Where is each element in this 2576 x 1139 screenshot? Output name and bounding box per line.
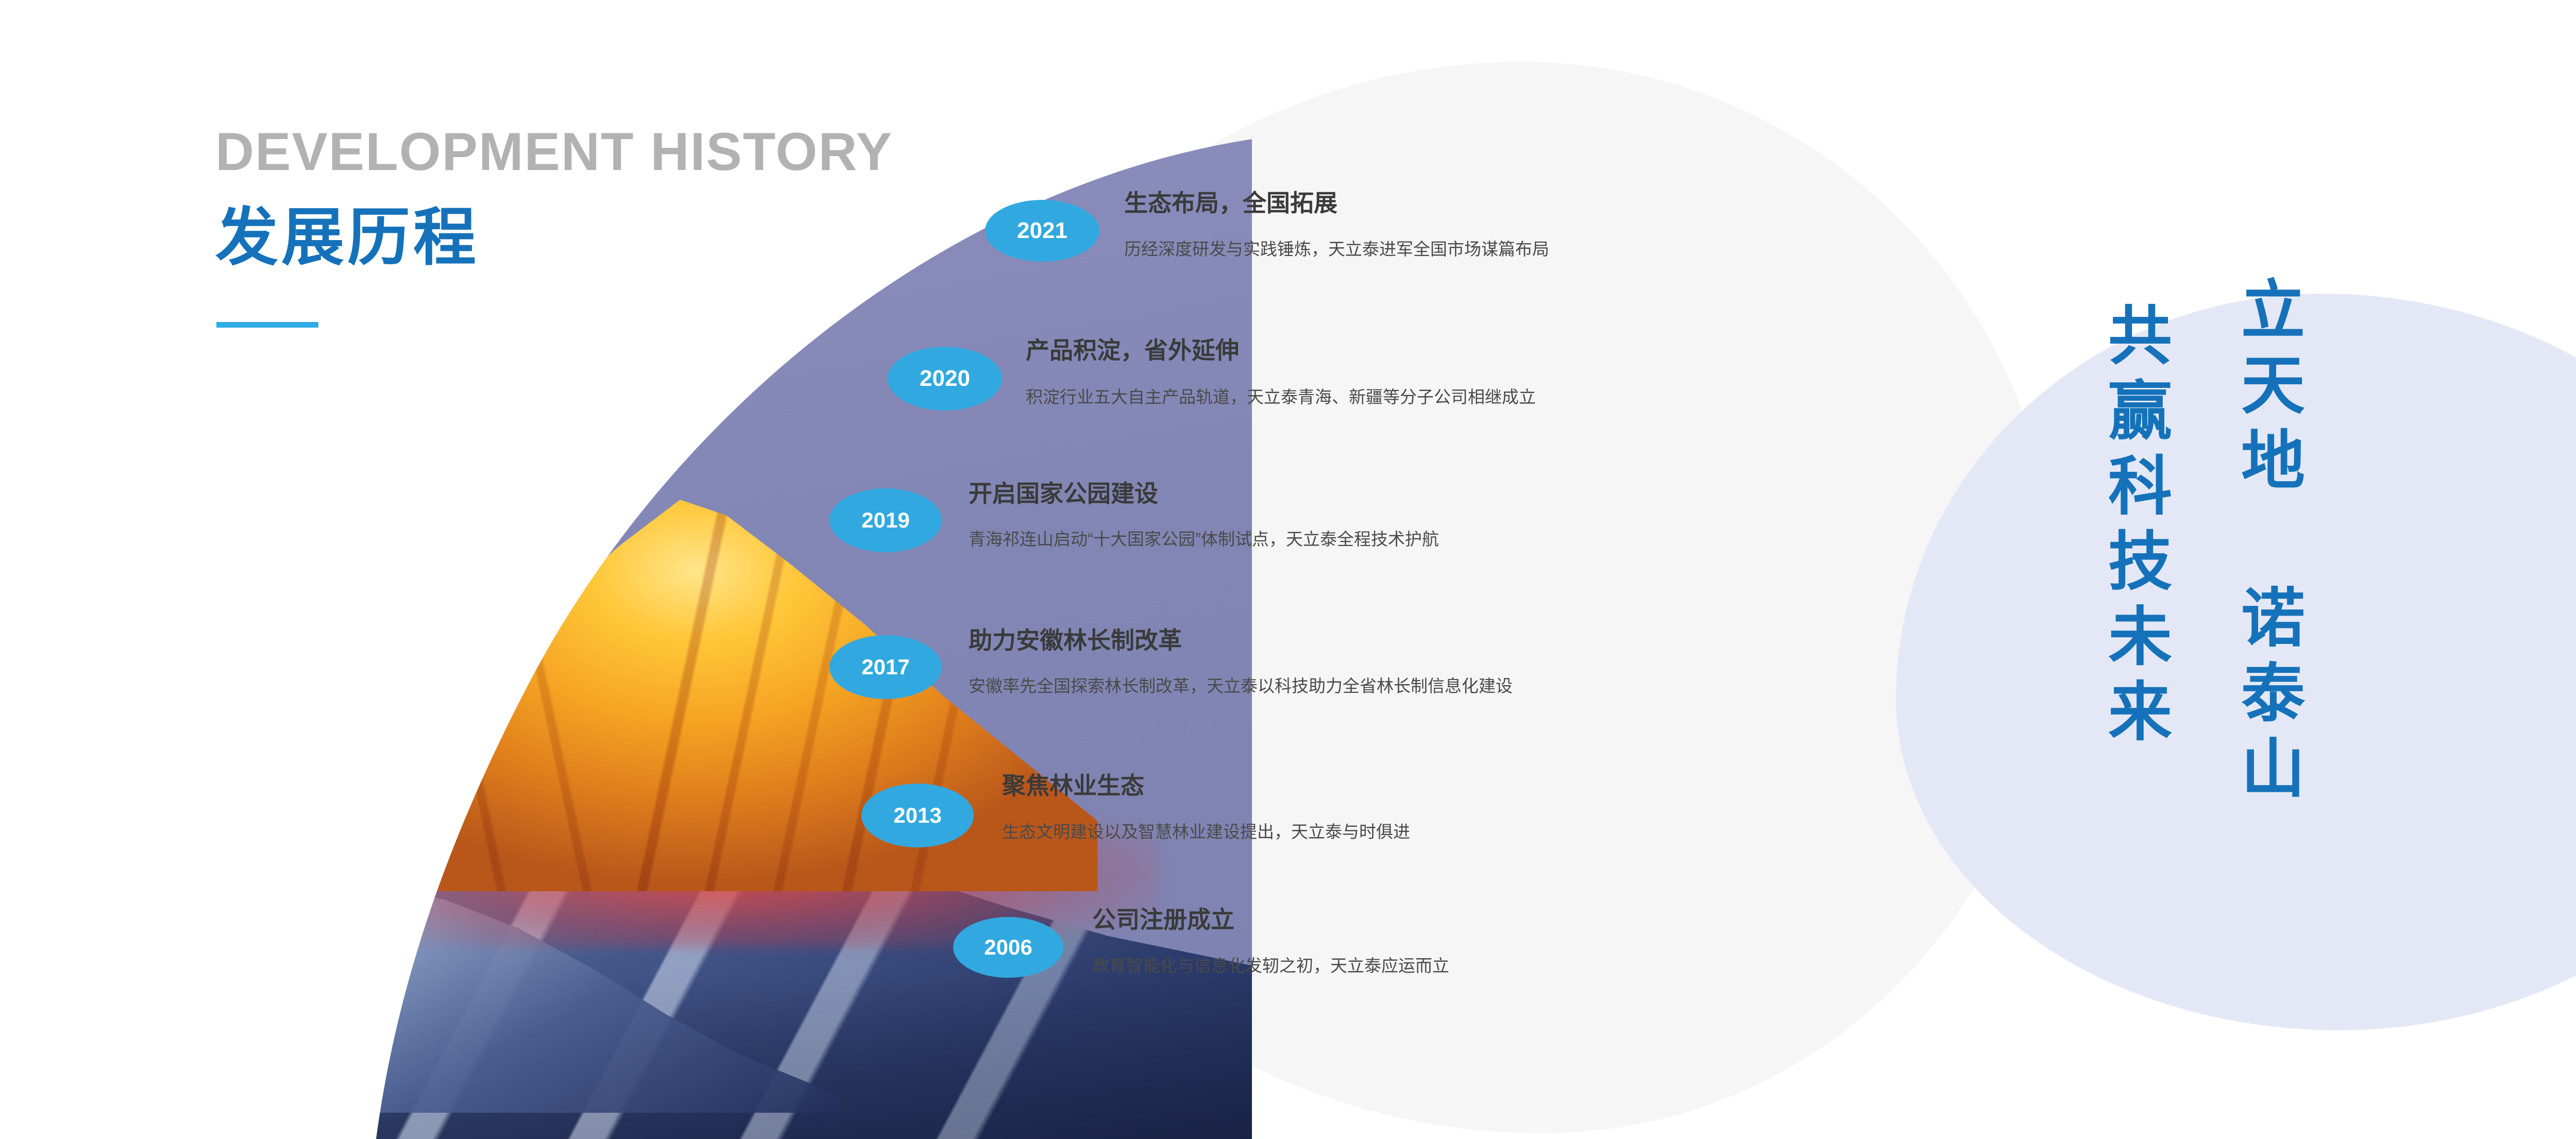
timeline-year-marker[interactable]: 2017 [829, 635, 942, 699]
page-title-chinese: 发展历程 [215, 206, 479, 269]
timeline-item-desc: 历经深度研发与实践锤炼，天立泰进军全国市场谋篇布局 [1124, 241, 1549, 258]
slogan-line-left: 共赢科技未来 [2102, 302, 2166, 753]
slide-canvas: DEVELOPMENT HISTORY 发展历程 2021 生态布局，全国拓展 … [0, 0, 2576, 1139]
title-underline-rule [216, 322, 318, 328]
timeline-year-marker[interactable]: 2006 [953, 917, 1063, 978]
timeline-item-title: 公司注册成立 [1092, 908, 1234, 931]
timeline-item-desc: 生态文明建设以及智慧林业建设提出，天立泰与时俱进 [1002, 823, 1410, 840]
timeline-item-desc: 积淀行业五大自主产品轨道，天立泰青海、新疆等分子公司相继成立 [1026, 388, 1536, 405]
timeline-year-marker[interactable]: 2013 [861, 784, 974, 847]
timeline-item-desc: 教育智能化与信息化发轫之初，天立泰应运而立 [1092, 957, 1449, 974]
timeline-item-desc: 青海祁连山启动“十大国家公园”体制试点，天立泰全程技术护航 [969, 531, 1439, 548]
timeline-item-title: 产品积淀，省外延伸 [1026, 338, 1239, 362]
timeline-item-title: 助力安徽林长制改革 [969, 628, 1182, 652]
slogan-line-right: 立天地 诺泰山 [2235, 276, 2299, 810]
timeline-year-marker[interactable]: 2021 [985, 200, 1099, 262]
timeline-item-title: 生态布局，全国拓展 [1124, 191, 1337, 215]
timeline-item-desc: 安徽率先全国探索林长制改革，天立泰以科技助力全省林长制信息化建设 [969, 677, 1513, 694]
timeline-year-marker[interactable]: 2019 [829, 488, 942, 552]
timeline-year-marker[interactable]: 2020 [888, 347, 1002, 411]
timeline-item-title: 开启国家公园建设 [969, 482, 1158, 505]
page-title-english: DEVELOPMENT HISTORY [215, 125, 893, 179]
timeline-item-title: 聚焦林业生态 [1002, 774, 1144, 797]
